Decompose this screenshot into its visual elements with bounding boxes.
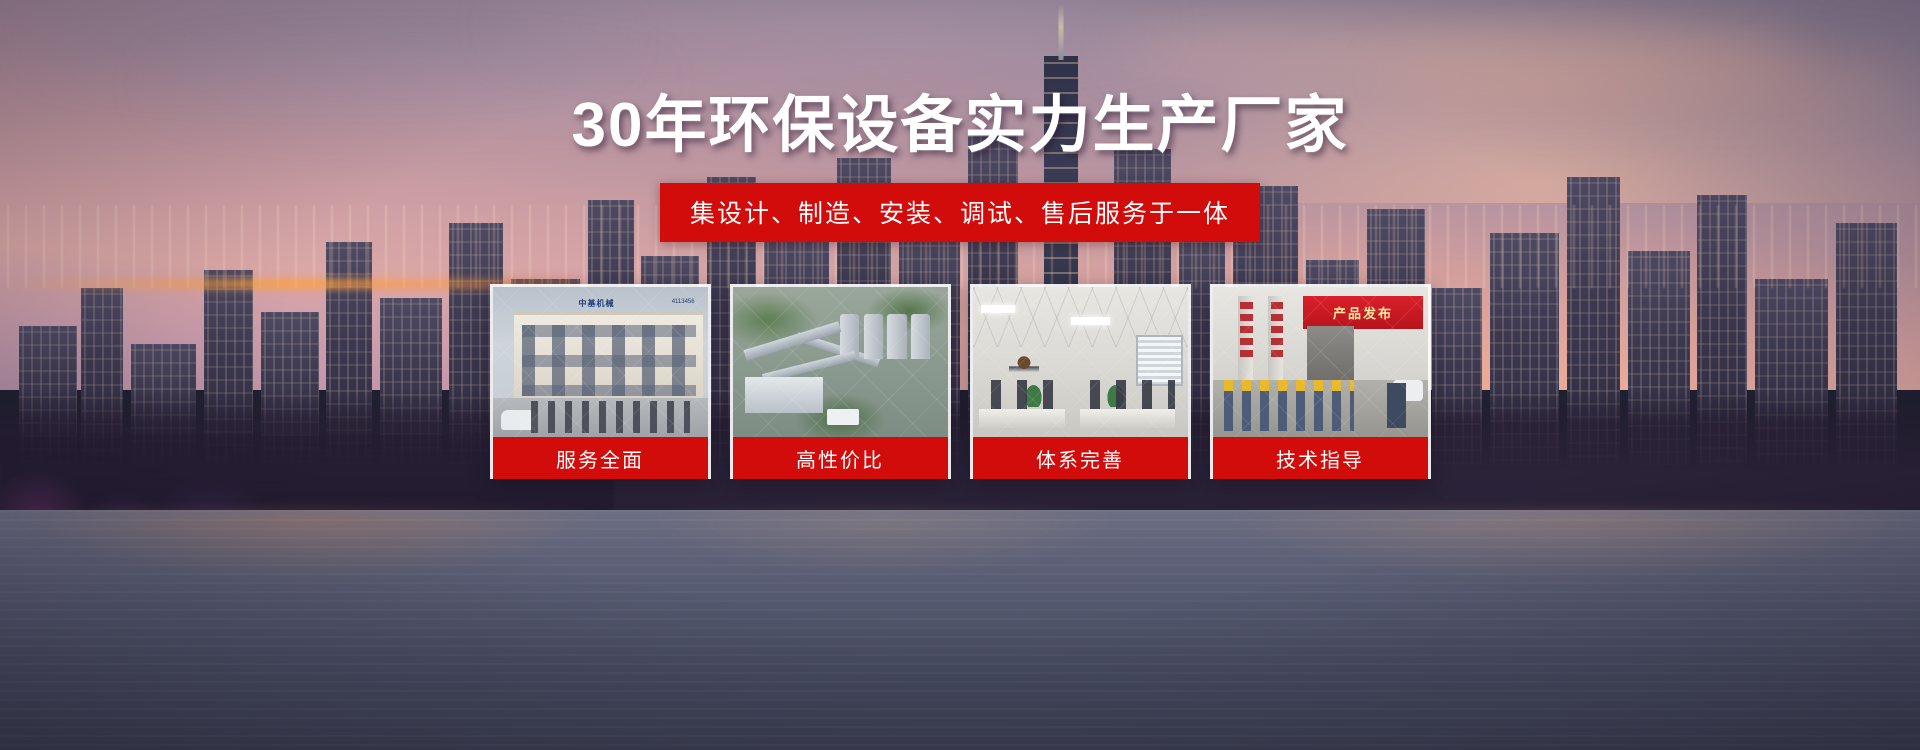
- building-phone-text: 4113456: [672, 299, 695, 305]
- card-caption: 高性价比: [733, 437, 948, 479]
- vertical-slogan: [1240, 302, 1253, 362]
- silo: [911, 314, 930, 359]
- card-thumbnail-workshop: [1213, 287, 1428, 437]
- ceiling-lamp: [981, 305, 1015, 313]
- card-caption: 服务全面: [493, 437, 708, 479]
- workshop-red-banner: [1303, 296, 1423, 329]
- silo: [864, 314, 883, 359]
- feature-card-list: 中基机械 4113456 服务全面: [490, 284, 1431, 479]
- vertical-slogan: [1271, 302, 1284, 362]
- card-caption: 技术指导: [1213, 437, 1428, 479]
- feature-card[interactable]: 中基机械 4113456 服务全面: [490, 284, 711, 479]
- desk: [979, 409, 1065, 429]
- desk: [1080, 409, 1175, 429]
- plant-shed: [745, 377, 822, 413]
- feature-card[interactable]: 技术指导: [1210, 284, 1431, 479]
- ceiling-lamp: [1071, 317, 1110, 325]
- building-sign-text: 中基机械: [579, 298, 615, 309]
- card-thumbnail-production-plant: [733, 287, 948, 437]
- page-title: 30年环保设备实力生产厂家: [572, 95, 1349, 157]
- truck: [827, 409, 859, 426]
- workshop-door: [1307, 326, 1354, 386]
- building-facade: [514, 311, 703, 401]
- window-blinds: [1136, 335, 1183, 386]
- safety-helmets: [1221, 380, 1354, 391]
- card-thumbnail-office-building: 中基机械 4113456: [493, 287, 708, 437]
- card-caption: 体系完善: [973, 437, 1188, 479]
- hero-banner: 30年环保设备实力生产厂家 集设计、制造、安装、调试、售后服务于一体 中基机械 …: [0, 0, 1920, 750]
- wall-decal: [1009, 353, 1039, 377]
- banner-content: 30年环保设备实力生产厂家 集设计、制造、安装、调试、售后服务于一体 中基机械 …: [0, 0, 1920, 750]
- subtitle-badge: 集设计、制造、安装、调试、售后服务于一体: [660, 183, 1260, 242]
- feature-card[interactable]: 体系完善: [970, 284, 1191, 479]
- feature-card[interactable]: 高性价比: [730, 284, 951, 479]
- supervisor: [1387, 383, 1406, 428]
- staff-lineup: [527, 401, 690, 433]
- silo: [887, 314, 906, 359]
- card-thumbnail-office-interior: [973, 287, 1188, 437]
